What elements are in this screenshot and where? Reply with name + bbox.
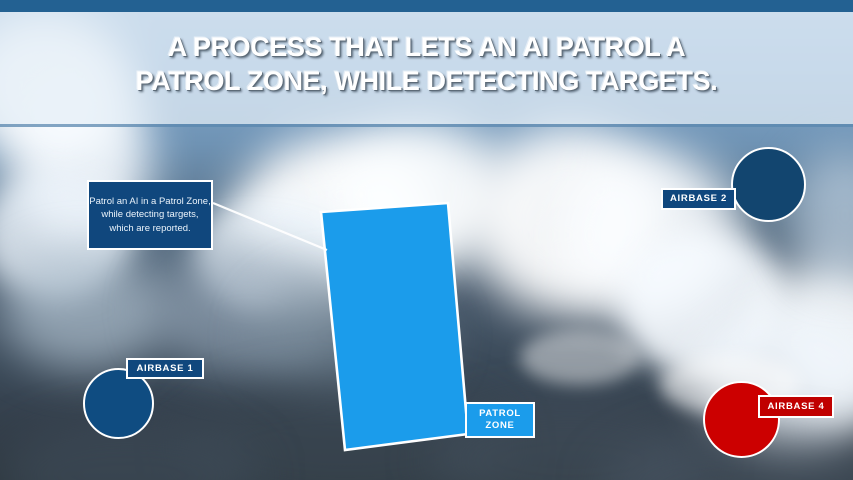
- airbase-4-label[interactable]: AIRBASE 4: [758, 395, 834, 418]
- callout-box[interactable]: Patrol an AI in a Patrol Zone, while det…: [87, 180, 213, 250]
- airbase-2-circle[interactable]: [731, 147, 806, 222]
- patrol-zone-label-line-1: PATROL: [479, 408, 521, 420]
- callout-line-3: which are reported.: [89, 222, 210, 236]
- airbase-4-circle[interactable]: [703, 381, 780, 458]
- callout-line-2: while detecting targets,: [89, 208, 210, 222]
- patrol-zone-label[interactable]: PATROL ZONE: [465, 402, 535, 438]
- airbase-1-label[interactable]: AIRBASE 1: [126, 358, 204, 379]
- airbase-2-label[interactable]: AIRBASE 2: [661, 188, 736, 210]
- callout-text: Patrol an AI in a Patrol Zone, while det…: [84, 195, 215, 236]
- callout-line-1: Patrol an AI in a Patrol Zone,: [89, 195, 210, 209]
- slide-canvas: A PROCESS THAT LETS AN AI PATROL A PATRO…: [0, 0, 853, 480]
- patrol-zone-label-line-2: ZONE: [485, 420, 514, 432]
